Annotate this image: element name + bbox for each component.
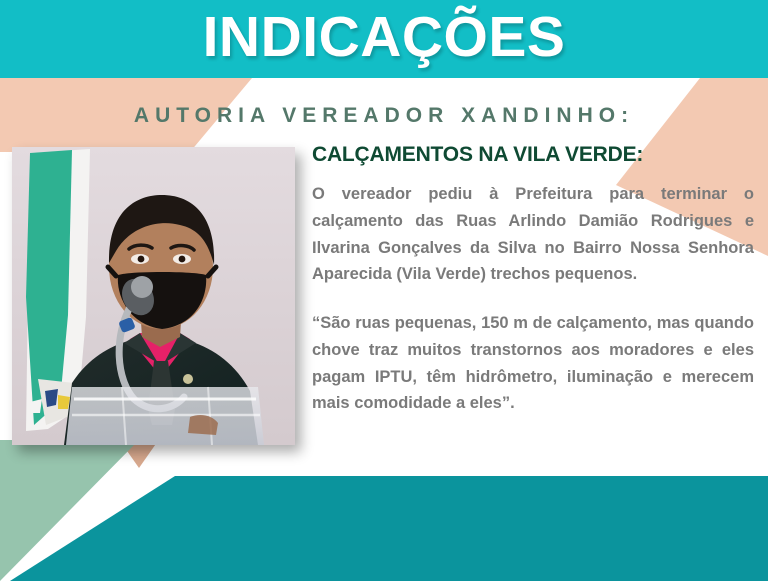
- content-paragraph-2: “São ruas pequenas, 150 m de calçamento,…: [312, 310, 754, 417]
- speaker-photo-illustration: [12, 147, 295, 445]
- author-subtitle: AUTORIA VEREADOR XANDINHO:: [0, 104, 768, 128]
- speaker-photo: [12, 147, 295, 445]
- content-paragraph-1: O vereador pediu à Prefeitura para termi…: [312, 181, 754, 288]
- content-heading: CALÇAMENTOS NA VILA VERDE:: [312, 142, 754, 167]
- content-column: CALÇAMENTOS NA VILA VERDE: O vereador pe…: [312, 142, 754, 417]
- poster-canvas: INDICAÇÕES AUTORIA VEREADOR XANDINHO:: [0, 0, 768, 581]
- page-title: INDICAÇÕES: [0, 0, 768, 78]
